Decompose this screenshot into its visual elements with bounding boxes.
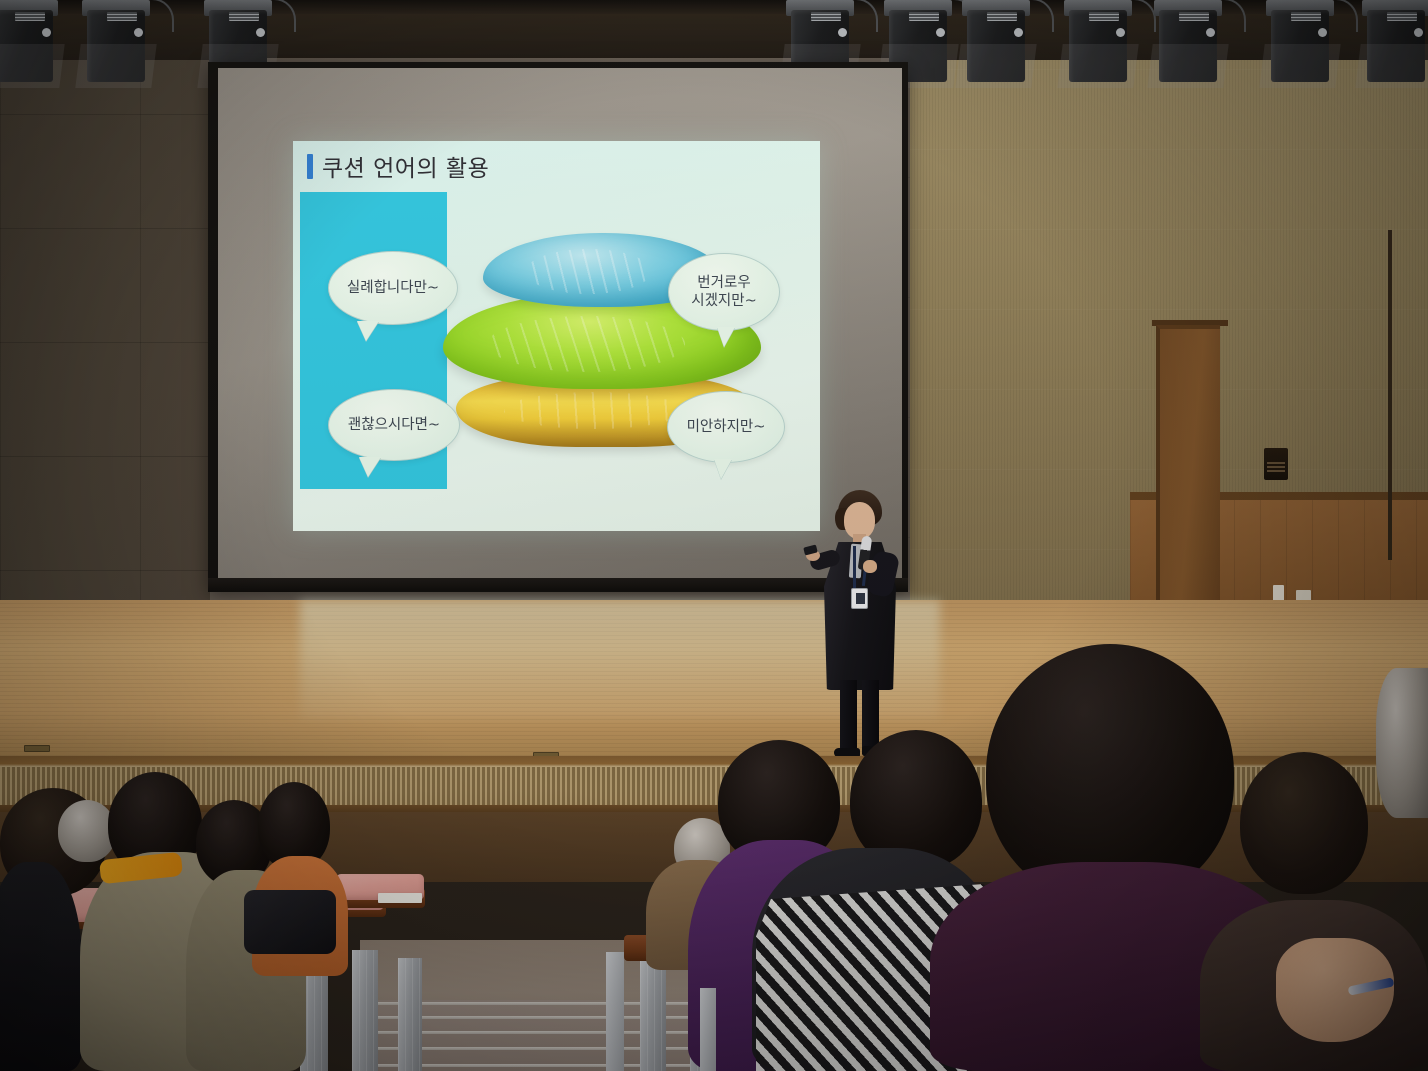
wall-vent-icon	[1264, 448, 1288, 480]
attendee-hand	[1276, 938, 1394, 1042]
bubble-tail-icon	[714, 459, 732, 479]
speech-bubble-bottom-right: 미안하지만~	[667, 391, 785, 463]
bubble-text-line2: 시겠지만~	[691, 293, 757, 309]
slide-title: 쿠션 언어의 활용	[322, 149, 489, 183]
attendee-head	[1240, 752, 1368, 894]
presenter-lanyard	[853, 546, 856, 592]
title-accent-bar	[307, 154, 313, 179]
aisle-rail	[606, 952, 624, 1071]
wall-corner-seam	[1388, 230, 1392, 560]
projection-screen-bottom-bar	[208, 578, 908, 592]
handout-paper[interactable]	[378, 893, 422, 903]
aisle-rail	[700, 988, 716, 1071]
bubble-text-line1: 번거로우	[697, 275, 750, 291]
stage-floor-plate	[24, 745, 50, 752]
attendee-bag	[244, 890, 336, 954]
attendee-head	[1376, 668, 1428, 818]
bubble-tail-icon	[357, 321, 379, 341]
stage-spotlight	[78, 0, 154, 90]
presenter-id-badge	[851, 588, 868, 609]
presentation-slide: 쿠션 언어의 활용 실례합니다만~ 번거로우 시겠지만~ 괜찮으시다면~ 미안하…	[293, 141, 820, 531]
speech-bubble-top-left: 실례합니다만~	[328, 251, 458, 325]
stage-spotlight	[1358, 0, 1428, 90]
bubble-tail-icon	[359, 457, 381, 477]
presenter-right-hand	[863, 560, 877, 573]
stage-spotlight	[1060, 0, 1136, 90]
auditorium-scene: 쿠션 언어의 활용 실례합니다만~ 번거로우 시겠지만~ 괜찮으시다면~ 미안하…	[0, 0, 1428, 1071]
bubble-text: 미안하지만~	[687, 418, 766, 436]
attendee-body	[0, 862, 82, 1071]
presenter	[806, 484, 910, 766]
speech-bubble-bottom-left: 괜찮으시다면~	[328, 389, 460, 461]
seat-standard	[398, 958, 422, 1071]
slide-title-row: 쿠션 언어의 활용	[307, 149, 489, 183]
presenter-left-leg	[840, 680, 857, 754]
bubble-text: 실례합니다만~	[347, 279, 439, 297]
stage-spotlight	[1262, 0, 1338, 90]
stage-spotlight	[0, 0, 62, 90]
bubble-text: 괜찮으시다면~	[348, 416, 440, 434]
seat-standard	[352, 950, 378, 1071]
bubble-tail-icon	[717, 327, 735, 347]
stage-spotlight	[958, 0, 1034, 90]
back-wall-left	[0, 60, 236, 685]
speech-bubble-top-right: 번거로우 시겠지만~	[668, 253, 780, 331]
stage-spotlight	[1150, 0, 1226, 90]
bubble-text: 번거로우 시겠지만~	[691, 274, 757, 310]
